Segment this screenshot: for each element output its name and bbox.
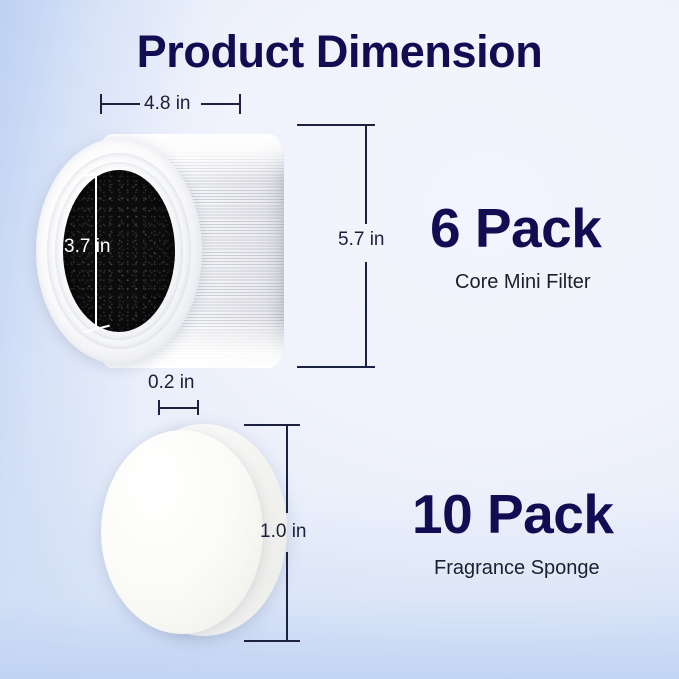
dimension-label-filter-height: 5.7 in [338, 229, 384, 251]
dimension-rule-right [201, 103, 240, 105]
product-dimension-infographic: Product Dimension 4.8 in 5.7 in 3.7 in [0, 0, 679, 679]
pack-count-fragrance-sponge: 10 Pack [412, 482, 613, 546]
product-name-fragrance-sponge: Fragrance Sponge [434, 557, 600, 580]
sponge-front-face [101, 430, 263, 634]
fragrance-sponge-image [95, 422, 285, 642]
dimension-label-filter-inner-diameter: 3.7 in [64, 236, 110, 258]
product-name-core-mini-filter: Core Mini Filter [455, 271, 591, 294]
dimension-rule-lower [286, 552, 288, 641]
dimension-label-sponge-thickness: 0.2 in [148, 372, 194, 394]
dimension-rule-upper [286, 425, 288, 513]
pack-count-core-mini-filter: 6 Pack [430, 196, 601, 260]
dimension-cap-bottom [297, 366, 375, 368]
dimension-rule [159, 407, 198, 409]
dimension-label-filter-width: 4.8 in [144, 93, 190, 115]
page-title: Product Dimension [0, 26, 679, 78]
dimension-cap-top [244, 424, 300, 426]
core-mini-filter-image: 3.7 in [36, 128, 288, 374]
dimension-rule-left [102, 103, 140, 105]
filter-front-face: 3.7 in [36, 138, 202, 364]
dimension-cap-bottom [244, 640, 300, 642]
dimension-rule-lower [365, 262, 367, 367]
dimension-label-sponge-diameter: 1.0 in [260, 521, 306, 543]
dimension-rule-upper [365, 125, 367, 224]
dimension-cap-top [297, 124, 375, 126]
